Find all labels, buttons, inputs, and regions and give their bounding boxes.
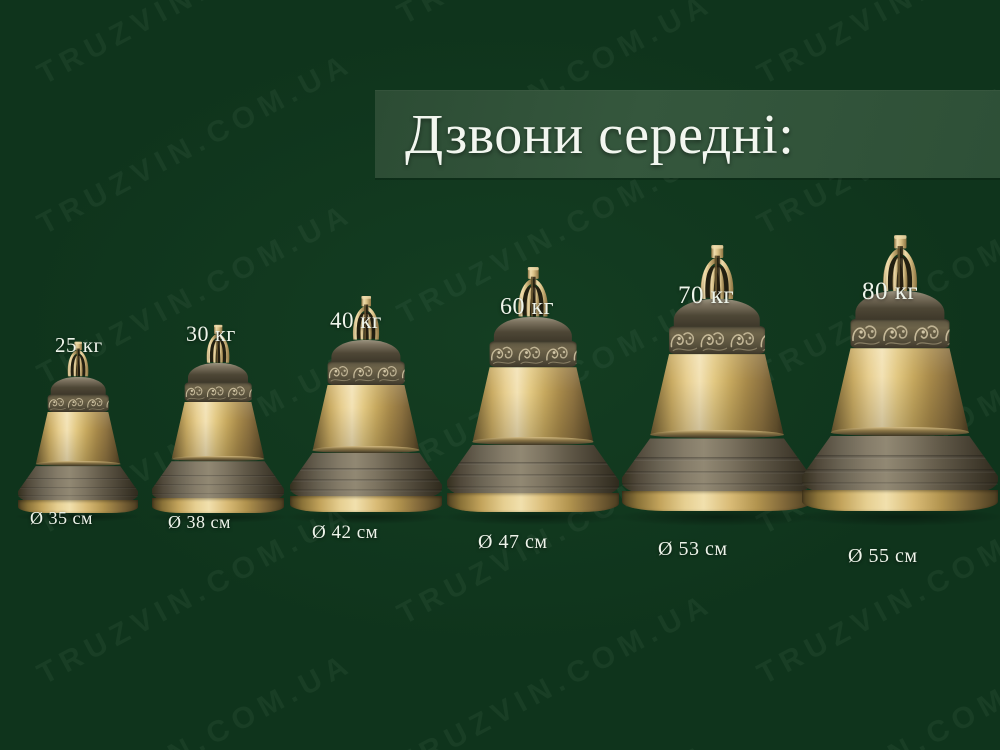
bell-waist-ring <box>36 461 121 466</box>
bell-skirt-groove <box>18 487 138 489</box>
bell-skirt-groove <box>152 475 284 477</box>
bell-skirt <box>290 453 442 498</box>
bell-skirt-groove <box>802 469 998 472</box>
bell-weight-label: 70 кг <box>678 282 734 310</box>
bell-body <box>831 348 968 431</box>
bell-body-sheen <box>36 412 120 464</box>
bell-ornament-band <box>185 382 252 402</box>
bell-lip <box>447 493 619 512</box>
bell-waist-ring <box>171 456 264 462</box>
bell-diameter-label: Ø 53 см <box>658 538 727 561</box>
bell-skirt-groove <box>18 478 138 480</box>
bell-illustration <box>802 234 998 516</box>
bell-skirt-groove <box>622 457 812 460</box>
bell-waist-ring <box>312 446 419 453</box>
bell-body-sheen <box>831 348 968 431</box>
bell-diameter-label: Ø 38 см <box>168 512 231 533</box>
bell-group[interactable]: 70 кгØ 53 см <box>622 0 812 750</box>
bell-group[interactable]: 80 кгØ 55 см <box>802 0 998 750</box>
bell-skirt <box>447 445 619 496</box>
bell-skirt-groove <box>622 483 812 486</box>
bell-skirt-groove <box>802 455 998 458</box>
bell-group[interactable]: 60 кгØ 47 см <box>447 0 619 750</box>
bell-diameter-label: Ø 47 см <box>478 531 547 554</box>
bell-skirt-groove <box>290 468 442 471</box>
bell-body <box>172 402 264 459</box>
bell-weight-label: 30 кг <box>186 321 236 347</box>
bell-skirt-groove <box>152 484 284 486</box>
bell-skirt-groove <box>622 471 812 474</box>
bell-lip <box>622 491 812 511</box>
bell-skirt <box>622 438 812 494</box>
bell-group[interactable]: 25 кгØ 35 см <box>18 0 138 750</box>
bell-illustration <box>18 341 138 516</box>
poster-canvas: TRUZVIN.COM.UATRUZVIN.COM.UATRUZVIN.COM.… <box>0 0 1000 750</box>
bell-ornament-band <box>48 394 109 412</box>
bell-lip <box>802 490 998 511</box>
bell-waist-ring <box>472 437 593 445</box>
bell-body <box>651 354 784 434</box>
bell-skirt <box>18 466 138 502</box>
bell-body <box>473 367 593 441</box>
bell-body-sheen <box>172 402 264 459</box>
bell-skirt-groove <box>290 479 442 482</box>
bell-skirt-groove <box>152 493 284 495</box>
bell-ornament-band <box>669 326 765 355</box>
bell-skirt-groove <box>290 489 442 492</box>
bell-diameter-label: Ø 35 см <box>30 508 93 529</box>
bell-weight-label: 25 кг <box>55 333 103 358</box>
bell-skirt <box>802 436 998 494</box>
bell-illustration <box>152 324 284 516</box>
bell-waist-ring <box>650 430 784 438</box>
bell-diameter-label: Ø 55 см <box>848 545 917 568</box>
bell-row: 25 кгØ 35 см <box>0 0 1000 750</box>
bell-waist-ring <box>831 427 969 435</box>
bell-ornament-band <box>328 361 405 384</box>
bell-ornament-band <box>490 341 577 367</box>
bell-lip <box>152 498 284 512</box>
bell-lip <box>290 496 442 513</box>
bell-weight-label: 60 кг <box>500 294 554 321</box>
bell-group[interactable]: 40 кгØ 42 см <box>290 0 442 750</box>
bell-skirt <box>152 461 284 500</box>
bell-shadow <box>616 508 817 526</box>
bell-body <box>36 412 120 464</box>
bell-group[interactable]: 30 кгØ 38 см <box>152 0 284 750</box>
bell-body-sheen <box>313 385 419 450</box>
bell-body-sheen <box>473 367 593 441</box>
bell-diameter-label: Ø 42 см <box>312 522 378 544</box>
bell-skirt-groove <box>447 486 619 489</box>
bell-ornament-band <box>851 319 950 349</box>
bell-skirt-groove <box>18 495 138 497</box>
bell-body-sheen <box>651 354 784 434</box>
bell-body <box>313 385 419 450</box>
bell-weight-label: 80 кг <box>862 278 918 306</box>
bell-skirt-groove <box>447 474 619 477</box>
bell-weight-label: 40 кг <box>330 308 382 334</box>
bell-skirt-groove <box>447 462 619 465</box>
bell-skirt-groove <box>802 482 998 485</box>
